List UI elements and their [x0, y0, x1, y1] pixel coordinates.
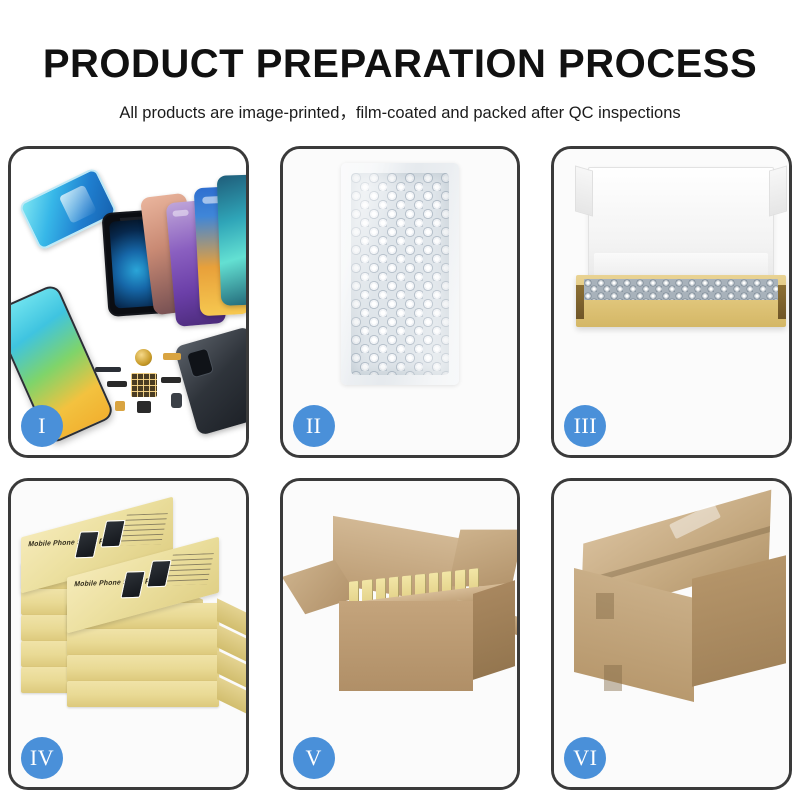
carton-side-face — [473, 580, 515, 680]
retail-box — [67, 681, 219, 707]
header: PRODUCT PREPARATION PROCESS All products… — [0, 0, 800, 123]
process-step-2: II — [280, 146, 521, 458]
process-step-3: III — [551, 146, 792, 458]
carton-right-face — [692, 555, 786, 686]
part-sim-tray-icon — [115, 401, 125, 411]
part-flex-cable-icon — [163, 353, 181, 360]
kraft-inner-box-icon — [576, 275, 786, 327]
part-chip-grid-icon — [131, 373, 157, 397]
box-left-wall — [576, 285, 584, 319]
page-title: PRODUCT PREPARATION PROCESS — [0, 42, 800, 87]
page-subtitle: All products are image-printed，film-coat… — [0, 99, 800, 123]
part-vibration-motor-icon — [135, 349, 152, 366]
step-badge-2: II — [293, 405, 335, 447]
box-window-left — [74, 531, 99, 559]
phone-teal-icon — [217, 174, 249, 306]
plastic-sheen — [341, 163, 459, 385]
bubble-wrapped-contents — [584, 279, 778, 300]
camera-lens-icon — [186, 347, 214, 378]
process-step-5: V — [280, 478, 521, 790]
part-camera-module-icon — [137, 401, 151, 413]
phone-back-housing-icon — [174, 326, 249, 436]
box-spec-lines — [120, 513, 168, 546]
process-step-1: I — [8, 146, 249, 458]
process-step-6: VI — [551, 478, 792, 790]
sealed-carton-icon — [574, 517, 786, 703]
part-connector-icon — [107, 381, 127, 387]
step-badge-1: I — [21, 405, 63, 447]
retail-box — [67, 655, 219, 681]
part-ribbon-icon — [161, 377, 181, 383]
box-spec-lines — [166, 553, 214, 586]
retail-box — [67, 629, 219, 655]
carton-tab-lower — [604, 665, 622, 691]
bubble-wrap-bag-icon — [341, 163, 459, 385]
open-carton-icon — [305, 515, 517, 703]
retail-box-stack-icon: Mobile Phone Spare Parts Mobile Phone Sp… — [21, 507, 249, 715]
carton-tab-upper — [596, 593, 614, 619]
part-speaker-bar-icon — [95, 367, 121, 372]
part-battery-icon — [171, 393, 182, 408]
box-right-wall — [778, 285, 786, 319]
step-badge-5: V — [293, 737, 335, 779]
process-step-grid: I II III — [8, 146, 792, 790]
product-preparation-infographic: PRODUCT PREPARATION PROCESS All products… — [0, 0, 800, 800]
carton-front-face — [339, 601, 473, 691]
process-step-4: Mobile Phone Spare Parts Mobile Phone Sp… — [8, 478, 249, 790]
box-window-left — [120, 571, 145, 599]
step-badge-4: IV — [21, 737, 63, 779]
